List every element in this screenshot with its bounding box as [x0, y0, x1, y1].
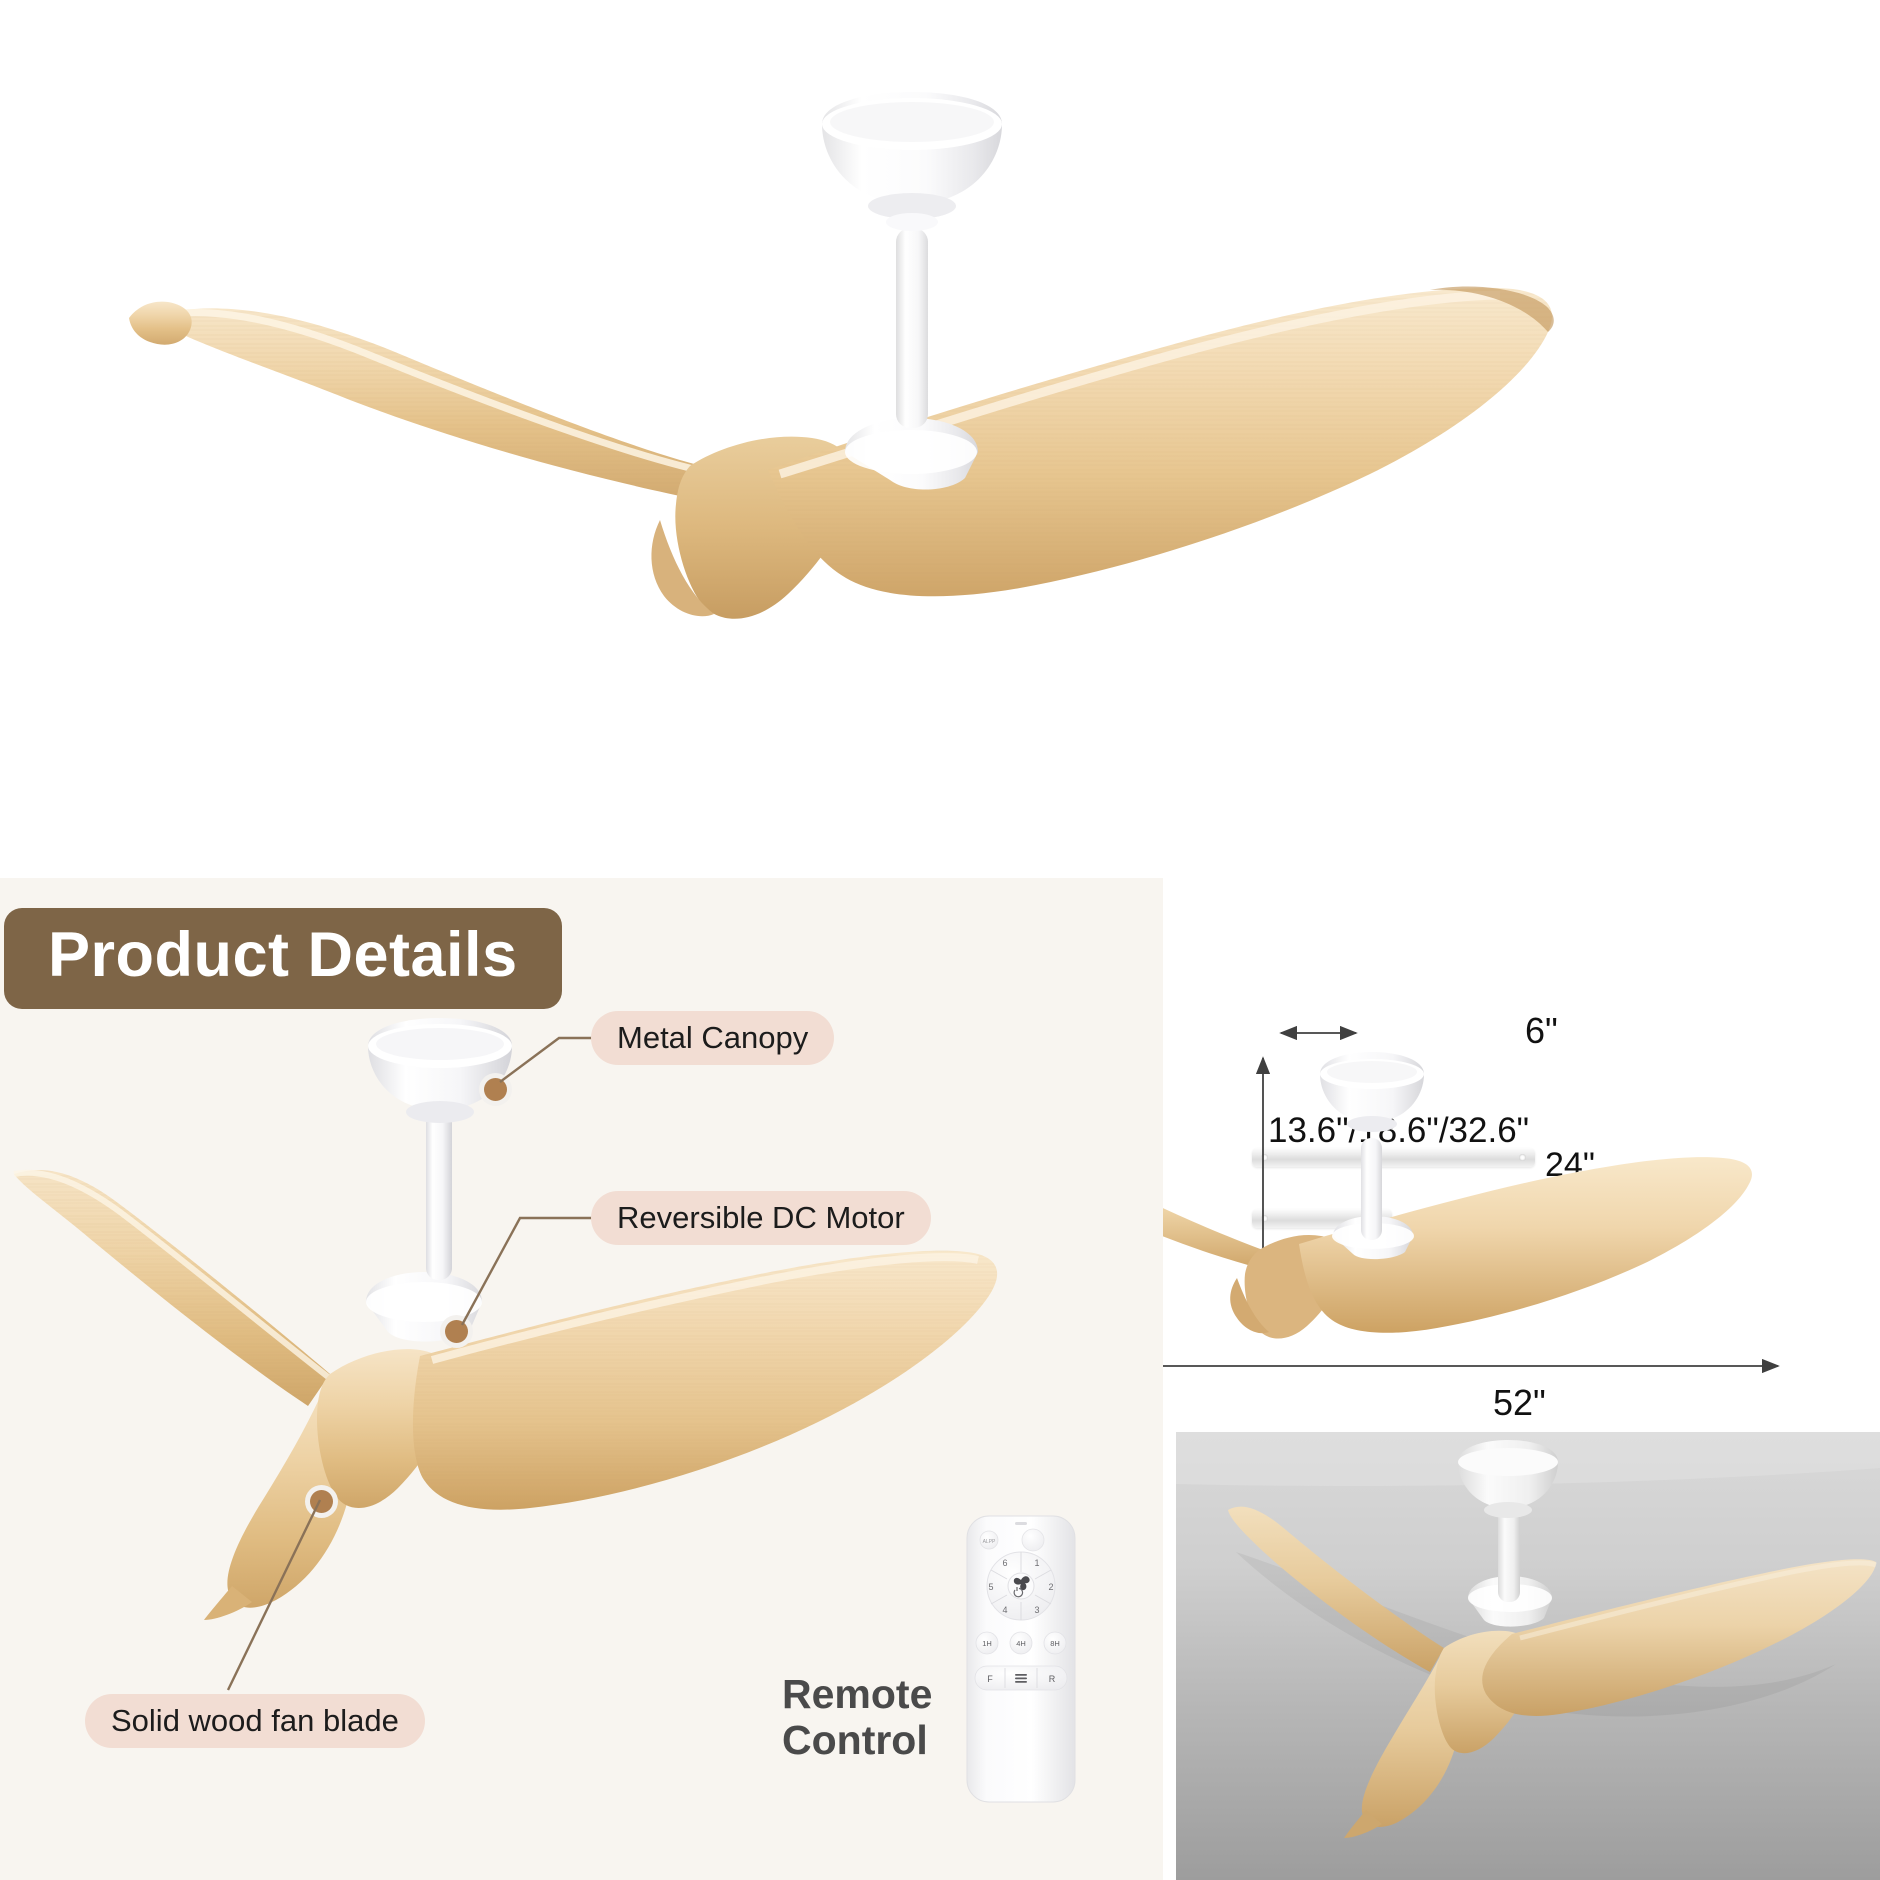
leader-line-canopy	[500, 1038, 600, 1082]
callout-solid-wood-fan-blade-label: Solid wood fan blade	[111, 1703, 399, 1739]
remote-power-label: ALPP	[983, 1539, 996, 1545]
remote-timer-1h-label: 1H	[982, 1639, 992, 1648]
callout-metal-canopy-label: Metal Canopy	[617, 1020, 808, 1056]
remote-speed-1: 1	[1034, 1558, 1039, 1568]
photo-downrod	[1498, 1508, 1520, 1602]
remote-mode-row: F R	[975, 1666, 1067, 1690]
fan-grille-icon[interactable]	[1015, 1674, 1027, 1683]
remote-caption-line2: Control	[782, 1718, 932, 1764]
remote-light-button[interactable]	[1022, 1529, 1044, 1551]
mini-downrod	[1361, 1138, 1382, 1240]
remote-speed-5: 5	[988, 1582, 993, 1592]
remote-timer-row: 1H 4H 8H	[976, 1632, 1066, 1654]
remote-reverse-button[interactable]: R	[1049, 1674, 1056, 1684]
leader-line-motor	[462, 1218, 600, 1325]
remote-caption-line1: Remote	[782, 1672, 932, 1718]
remote-speed-2: 2	[1048, 1582, 1053, 1592]
callout-reversible-dc-motor: Reversible DC Motor	[591, 1191, 931, 1245]
callout-reversible-dc-motor-label: Reversible DC Motor	[617, 1200, 905, 1236]
remote-timer-4h-label: 4H	[1016, 1639, 1026, 1648]
remote-timer-8h-label: 8H	[1050, 1639, 1060, 1648]
remote-forward-button[interactable]: F	[987, 1674, 993, 1684]
remote-speed-6: 6	[1002, 1558, 1007, 1568]
leader-line-blade	[228, 1500, 320, 1690]
remote-speed-3: 3	[1034, 1605, 1039, 1615]
remote-ir-window	[1015, 1522, 1027, 1525]
callout-solid-wood-fan-blade: Solid wood fan blade	[85, 1694, 425, 1748]
dimension-diagram	[1163, 878, 1880, 1432]
callout-metal-canopy: Metal Canopy	[591, 1011, 834, 1065]
lifestyle-scene	[1176, 1432, 1880, 1880]
remote-control-caption: Remote Control	[782, 1672, 932, 1764]
remote-control: ALPP 1 2 3 4 5 6 1H	[955, 1512, 1095, 1812]
installed-lifestyle-photo	[1176, 1432, 1880, 1880]
remote-speed-4: 4	[1002, 1605, 1007, 1615]
mini-fan	[1163, 1052, 1752, 1339]
product-image-stage: Product Details	[0, 0, 1880, 1880]
